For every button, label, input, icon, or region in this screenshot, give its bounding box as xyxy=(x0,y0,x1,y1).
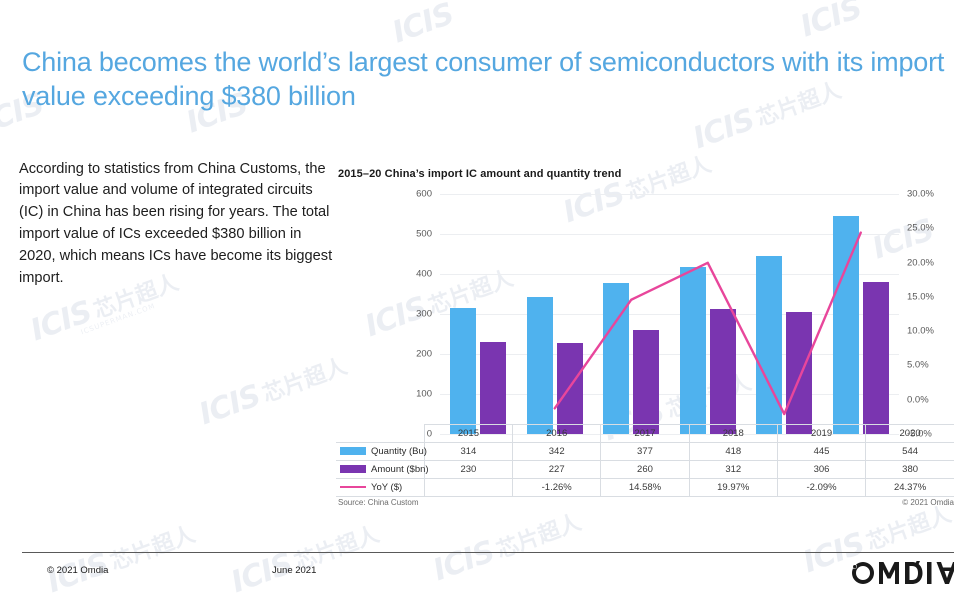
table-value-cell: -2.09% xyxy=(777,479,865,497)
yoy-line-path xyxy=(555,233,861,414)
legend-swatch-quantity xyxy=(340,447,366,455)
y-tick-label: 200 xyxy=(416,349,432,360)
table-value-cell: 14.58% xyxy=(601,479,689,497)
y2-tick-label: 5.0% xyxy=(907,360,929,371)
table-header-year: 2020 xyxy=(866,425,954,443)
table-row: Amount ($bn)230227260312306380 xyxy=(336,461,954,479)
watermark-icis: ICIS xyxy=(429,534,499,588)
chart-data-table: 201520162017201820192020Quantity (Bu)314… xyxy=(336,424,954,497)
table-value-cell: 418 xyxy=(689,443,777,461)
table-value-cell: -1.26% xyxy=(513,479,601,497)
table-value-cell: 445 xyxy=(777,443,865,461)
y2-tick-label: 10.0% xyxy=(907,326,934,337)
y-tick-label: 600 xyxy=(416,189,432,200)
table-value-cell xyxy=(424,479,512,497)
table-value-cell: 24.37% xyxy=(866,479,954,497)
table-value-cell: 227 xyxy=(513,461,601,479)
footer-divider xyxy=(22,552,954,553)
y2-tick-label: 20.0% xyxy=(907,257,934,268)
legend-swatch-amount xyxy=(340,465,366,473)
y2-tick-label: 0.0% xyxy=(907,394,929,405)
table-header-year: 2016 xyxy=(513,425,601,443)
chart-copyright: © 2021 Omdia xyxy=(902,498,954,507)
body-paragraph: According to statistics from China Custo… xyxy=(19,159,334,290)
table-header-year: 2019 xyxy=(777,425,865,443)
table-header-year: 2018 xyxy=(689,425,777,443)
legend-label: Quantity (Bu) xyxy=(371,446,427,457)
legend-label: Amount ($bn) xyxy=(371,464,429,475)
chart-title: 2015–20 China’s import IC amount and qua… xyxy=(338,168,954,180)
chart-source: Source: China Custom xyxy=(338,498,418,507)
table-row: 201520162017201820192020 xyxy=(336,425,954,443)
y-tick-label: 100 xyxy=(416,389,432,400)
y-tick-label: 500 xyxy=(416,229,432,240)
y2-tick-label: 25.0% xyxy=(907,223,934,234)
page-title: China becomes the world’s largest consum… xyxy=(22,46,952,113)
table-value-cell: 380 xyxy=(866,461,954,479)
y2-tick-label: 15.0% xyxy=(907,291,934,302)
plot-canvas: 0100200300400500600 -5.0%0.0%5.0%10.0%15… xyxy=(440,194,899,434)
table-header-year: 2015 xyxy=(424,425,512,443)
table-value-cell: 306 xyxy=(777,461,865,479)
table-value-cell: 544 xyxy=(866,443,954,461)
table-value-cell: 314 xyxy=(424,443,512,461)
y-tick-label: 400 xyxy=(416,269,432,280)
yoy-line-series xyxy=(440,194,899,434)
table-value-cell: 342 xyxy=(513,443,601,461)
table-value-cell: 260 xyxy=(601,461,689,479)
table-value-cell: 377 xyxy=(601,443,689,461)
y2-tick-label: 30.0% xyxy=(907,189,934,200)
table-value-cell: 230 xyxy=(424,461,512,479)
table-header-year: 2017 xyxy=(601,425,689,443)
chart-container: 2015–20 China’s import IC amount and qua… xyxy=(336,168,954,513)
legend-swatch-yoy xyxy=(340,486,366,488)
watermark-icis: ICIS xyxy=(388,0,458,51)
table-corner-cell xyxy=(336,425,424,443)
omdia-logo xyxy=(850,560,954,591)
watermark-icis: ICIS xyxy=(26,294,96,348)
table-row: YoY ($)-1.26%14.58%19.97%-2.09%24.37% xyxy=(336,479,954,497)
watermark-cn: 芯片超人 xyxy=(493,510,584,564)
table-value-cell: 19.97% xyxy=(689,479,777,497)
table-row: Quantity (Bu)314342377418445544 xyxy=(336,443,954,461)
table-series-label: Amount ($bn) xyxy=(336,461,424,479)
y-tick-label: 300 xyxy=(416,309,432,320)
footer-copyright: © 2021 Omdia xyxy=(47,565,108,576)
slide-canvas: ICIS ICIS芯片超人ICSUPERMAN.COM ICIS芯片超人 ICI… xyxy=(0,0,976,604)
table-series-label: YoY ($) xyxy=(336,479,424,497)
footer-date: June 2021 xyxy=(272,565,316,576)
table-series-label: Quantity (Bu) xyxy=(336,443,424,461)
table-value-cell: 312 xyxy=(689,461,777,479)
watermark-icis: ICIS xyxy=(195,378,265,432)
watermark-cn: 芯片超人 xyxy=(107,522,198,576)
watermark-tagline: ICSUPERMAN.COM xyxy=(80,292,184,336)
legend-label: YoY ($) xyxy=(371,482,402,493)
watermark-icis: ICIS xyxy=(796,0,866,45)
plot-area: 0100200300400500600 -5.0%0.0%5.0%10.0%15… xyxy=(336,186,954,434)
